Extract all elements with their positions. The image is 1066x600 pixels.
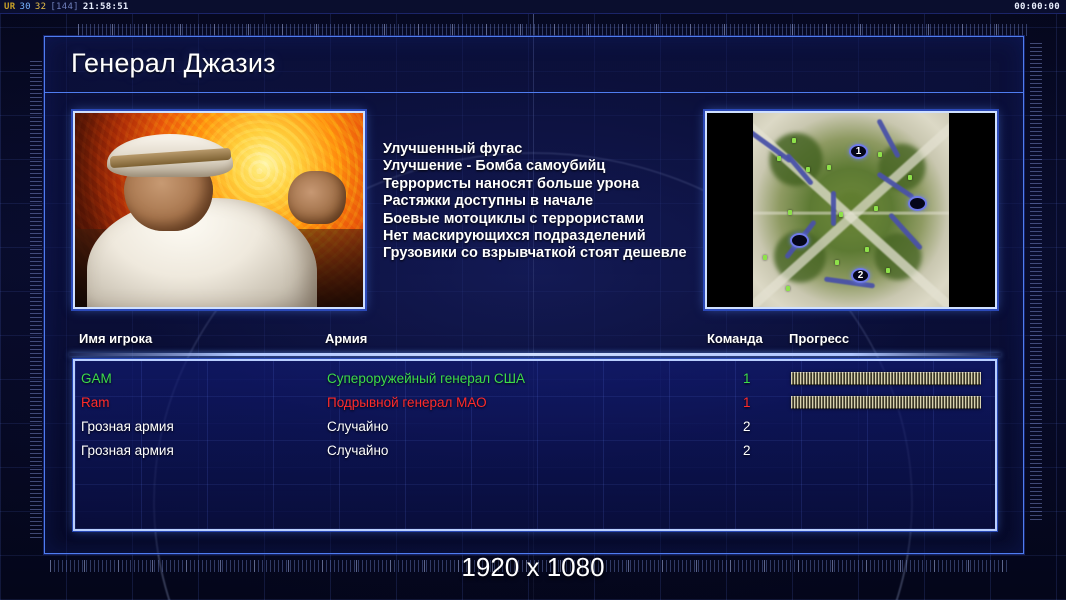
cell-army: Супероружейный генерал США: [327, 367, 525, 391]
table-row[interactable]: Грозная армияСлучайно2: [75, 439, 995, 463]
map-resource: [792, 138, 796, 143]
map-resource: [839, 212, 843, 217]
cell-team: 1: [743, 391, 751, 415]
header-divider: [69, 353, 1001, 356]
portrait-hand: [288, 171, 346, 223]
table-row[interactable]: Грозная армияСлучайно2: [75, 415, 995, 439]
fps-readout: UR3032[144]21:58:51: [2, 0, 131, 14]
map-resource: [777, 156, 781, 161]
map-start-position[interactable]: 1: [849, 144, 868, 159]
map-resource: [788, 210, 792, 215]
column-header-player-name: Имя игрока: [79, 331, 152, 346]
map-resource: [763, 255, 767, 260]
cell-progress-bar: [791, 372, 981, 385]
column-header-army: Армия: [325, 331, 367, 346]
column-header-team: Команда: [707, 331, 763, 346]
player-table-header: Имя игрока Армия Команда Прогресс: [73, 331, 997, 353]
map-preview[interactable]: 12: [705, 111, 997, 309]
general-info-panel: Генерал Джазиз Улучшенный фугасУлучшение…: [44, 36, 1024, 554]
cell-team: 2: [743, 439, 751, 463]
general-portrait: [73, 111, 365, 309]
media-row: Улучшенный фугасУлучшение - Бомба самоуб…: [73, 111, 997, 249]
ruler-right: [1030, 40, 1042, 520]
cell-progress-bar: [791, 396, 981, 409]
map-resource: [886, 268, 890, 273]
column-header-progress: Прогресс: [789, 331, 849, 346]
resolution-caption: 1920 x 1080: [0, 552, 1066, 583]
top-status-bar: UR3032[144]21:58:51 00:00:00: [0, 0, 1066, 14]
cell-player-name: Грозная армия: [81, 439, 174, 463]
cell-team: 2: [743, 415, 751, 439]
cell-army: Подрывной генерал МАО: [327, 391, 487, 415]
map-river: [831, 191, 836, 226]
map-resource: [865, 247, 869, 252]
ruler-left: [30, 58, 42, 538]
match-timer: 00:00:00: [1014, 0, 1060, 14]
ruler-top: [78, 24, 1028, 36]
map-resource: [874, 206, 878, 211]
player-table: GAMСупероружейный генерал США1RamПодрывн…: [73, 359, 997, 531]
fps-value-1: 30: [17, 2, 32, 12]
map-terrain: 12: [753, 113, 949, 307]
cell-player-name: Грозная армия: [81, 415, 174, 439]
map-resource: [878, 152, 882, 157]
table-row[interactable]: RamПодрывной генерал МАО1: [75, 391, 995, 415]
cell-player-name: Ram: [81, 391, 110, 415]
table-row[interactable]: GAMСупероружейный генерал США1: [75, 367, 995, 391]
map-resource: [806, 167, 810, 172]
system-clock: 21:58:51: [81, 2, 131, 12]
map-resource: [835, 260, 839, 265]
cell-player-name: GAM: [81, 367, 112, 391]
map-resource: [908, 175, 912, 180]
map-resource: [786, 286, 790, 291]
title-band: Генерал Джазиз: [45, 37, 1023, 93]
fps-label: UR: [2, 2, 17, 12]
cell-army: Случайно: [327, 439, 388, 463]
page-title: Генерал Джазиз: [71, 48, 276, 79]
cell-army: Случайно: [327, 415, 388, 439]
fps-value-2: 32: [33, 2, 48, 12]
fps-bracket: [144]: [48, 2, 81, 12]
cell-team: 1: [743, 367, 751, 391]
